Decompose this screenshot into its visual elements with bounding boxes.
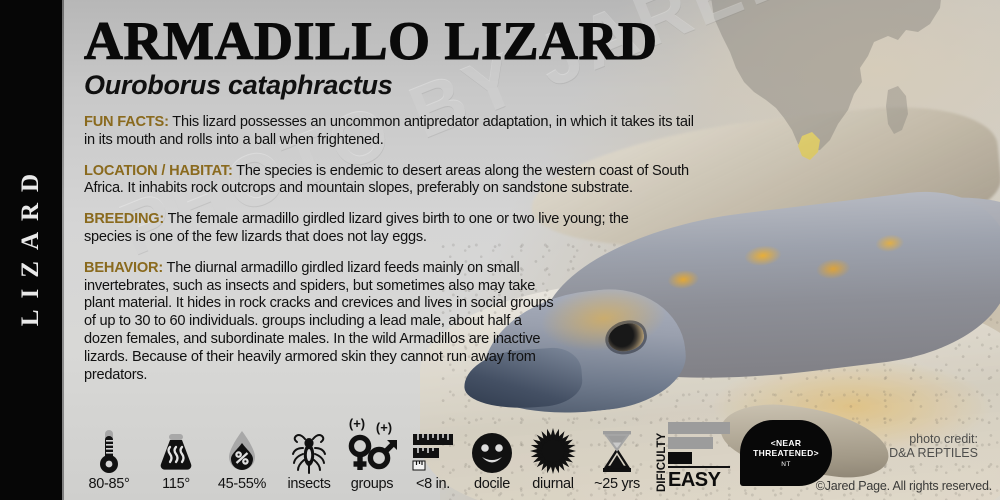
difficulty-bar-2 [668, 437, 713, 449]
humidity-drop-icon [225, 428, 259, 474]
care-item-basking: 115° [146, 428, 206, 492]
section-behavior: BEHAVIOR: The diurnal armadillo girdled … [84, 260, 554, 385]
conservation-status-badge: <NEAR THREATENED> NT [740, 420, 832, 486]
care-item-social: (+) (+) groups [340, 428, 404, 492]
male-symbol [370, 442, 395, 467]
section-fun-facts: FUN FACTS: This lizard possesses an unco… [84, 114, 702, 150]
difficulty-widget: DIFICULTY EASY [656, 422, 730, 492]
section-label-fun-facts: FUN FACTS: [84, 114, 169, 130]
ruler-segment-large [413, 434, 453, 445]
difficulty-bars [668, 422, 730, 468]
ruler-segment-medium [413, 448, 439, 458]
care-label-size: <8 in. [416, 476, 450, 492]
difficulty-bar-3 [668, 452, 692, 464]
section-label-location-habitat: LOCATION / HABITAT: [84, 163, 233, 179]
sun-icon [530, 428, 576, 474]
care-label-temperament: docile [474, 476, 510, 492]
care-icon-bar: 80-85° 115° [72, 414, 872, 492]
care-item-temperament: docile [462, 428, 522, 492]
care-item-lifespan: ~25 yrs [584, 428, 650, 492]
madagascar-shape [886, 86, 908, 134]
male-plus-badge: (+) [376, 420, 392, 435]
difficulty-chart: EASY [668, 422, 730, 492]
photo-credit: photo credit: D&A REPTILES [889, 432, 978, 460]
difficulty-axis-label: DIFICULTY [656, 434, 668, 492]
ruler-icon [411, 428, 455, 474]
conservation-status-text: <NEAR THREATENED> [740, 438, 832, 458]
section-label-breeding: BREEDING: [84, 211, 164, 227]
female-symbol [351, 437, 368, 470]
spine-edge-divider [62, 0, 64, 500]
hourglass-icon [598, 428, 636, 474]
scientific-name: Ouroborus cataphractus [84, 70, 744, 101]
care-label-lifespan: ~25 yrs [594, 476, 640, 492]
section-body-fun-facts: This lizard possesses an uncommon antipr… [84, 114, 694, 148]
care-label-basking: 115° [162, 476, 190, 492]
insect-icon [290, 428, 328, 474]
photo-credit-name: D&A REPTILES [889, 446, 978, 460]
care-item-diet: insects [278, 428, 340, 492]
photo-credit-label: photo credit: [889, 432, 978, 446]
species-care-poster: LIZARD PHOTO BY JAR [0, 0, 1000, 500]
section-body-breeding: The female armadillo girdled lizard give… [84, 211, 629, 245]
care-label-humidity: 45-55% [218, 476, 266, 492]
poster-canvas: PHOTO BY JARED PAGE ARMADILLO LIZARD Our… [64, 0, 1000, 500]
text-content: ARMADILLO LIZARD Ouroborus cataphractus … [84, 0, 744, 384]
africa-landmass-shape [710, 0, 942, 152]
section-location-habitat: LOCATION / HABITAT: The species is endem… [84, 163, 702, 199]
left-spine: LIZARD [0, 0, 62, 500]
smiley-icon [471, 428, 513, 474]
ruler-segment-small [413, 461, 425, 470]
sun-rays [530, 428, 576, 474]
heat-lamp-icon [156, 428, 196, 474]
difficulty-bar-1 [668, 422, 730, 434]
female-plus-badge: (+) [349, 416, 365, 431]
gender-group-icon: (+) (+) [344, 428, 400, 474]
conservation-status-code: NT [781, 461, 790, 468]
copyright-notice: ©Jared Page. All rights reserved. [816, 479, 992, 493]
section-body-behavior: The diurnal armadillo girdled lizard fee… [84, 260, 553, 383]
care-item-humidity: 45-55% [206, 428, 278, 492]
page-title: ARMADILLO LIZARD [84, 14, 744, 68]
care-item-activity: diurnal [522, 428, 584, 492]
care-label-temperature: 80-85° [88, 476, 129, 492]
care-label-activity: diurnal [532, 476, 573, 492]
section-breeding: BREEDING: The female armadillo girdled l… [84, 211, 629, 247]
spine-label: LIZARD [17, 163, 45, 337]
difficulty-value: EASY [668, 469, 720, 492]
care-item-temperature: 80-85° [72, 428, 146, 492]
care-item-size: <8 in. [404, 428, 462, 492]
care-label-social: groups [351, 476, 394, 492]
section-label-behavior: BEHAVIOR: [84, 260, 163, 276]
thermometer-icon [96, 428, 122, 474]
care-label-diet: insects [287, 476, 330, 492]
